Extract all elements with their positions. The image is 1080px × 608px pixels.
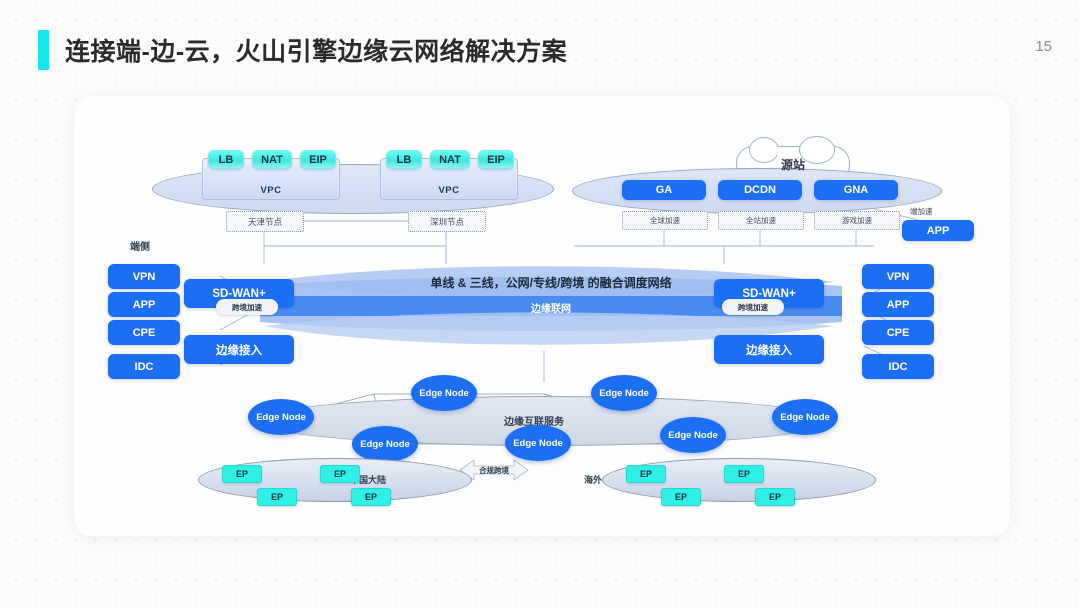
edge-node-2[interactable]: Edge Node	[411, 375, 477, 411]
edge-node-1[interactable]: Edge Node	[248, 399, 314, 435]
cloud-service-gna[interactable]: GNA	[814, 180, 898, 200]
slide-root: 连接端-边-云，火山引擎边缘云网络解决方案 15	[0, 0, 1080, 608]
page-number: 15	[1035, 38, 1052, 55]
vpc-left-service-nat[interactable]: NAT	[252, 150, 292, 169]
cloud-service-dcdn[interactable]: DCDN	[718, 180, 802, 200]
endpoint-left-vpn[interactable]: VPN	[108, 264, 180, 289]
ep-os-1[interactable]: EP	[626, 465, 666, 483]
edge-node-7[interactable]: Edge Node	[772, 399, 838, 435]
ep-cn-2[interactable]: EP	[320, 465, 360, 483]
cloud-service-caption-gna: 游戏加速	[814, 211, 900, 230]
compliant-cross-border-label: 合规跨境	[466, 456, 522, 484]
vpc-right-service-nat[interactable]: NAT	[430, 150, 470, 169]
endpoint-right-idc[interactable]: IDC	[862, 354, 934, 379]
endpoint-right-vpn[interactable]: VPN	[862, 264, 934, 289]
slide-header: 连接端-边-云，火山引擎边缘云网络解决方案	[38, 30, 567, 70]
edge-node-6[interactable]: Edge Node	[660, 417, 726, 453]
title-accent-bar	[38, 30, 49, 70]
backbone-top-text: 单线 & 三线，公网/专线/跨境 的融合调度网络	[260, 274, 842, 291]
overseas-label: 海外	[584, 473, 602, 486]
ep-os-2[interactable]: EP	[724, 465, 764, 483]
edge-node-5[interactable]: Edge Node	[591, 375, 657, 411]
vpc-right-service-lb[interactable]: LB	[386, 150, 422, 169]
cloud-service-ga[interactable]: GA	[622, 180, 706, 200]
cloud-service-caption-ga: 全球加速	[622, 211, 708, 230]
ep-os-3[interactable]: EP	[661, 488, 701, 506]
vpc-left-service-lb[interactable]: LB	[208, 150, 244, 169]
edge-access-right[interactable]: 边缘接入	[714, 335, 824, 364]
ep-cn-3[interactable]: EP	[257, 488, 297, 506]
vpc-right-service-eip[interactable]: EIP	[478, 150, 514, 169]
backbone-mid-text: 边缘联网	[260, 300, 842, 315]
page-title: 连接端-边-云，火山引擎边缘云网络解决方案	[65, 32, 567, 68]
app-caption: 端加速	[910, 206, 933, 217]
region-label-shenzhen: 深圳节点	[408, 211, 486, 232]
cloud-service-caption-dcdn: 全站加速	[718, 211, 804, 230]
vpc-label-right: VPC	[381, 185, 517, 196]
edge-node-3[interactable]: Edge Node	[352, 426, 418, 462]
endpoint-left-idc[interactable]: IDC	[108, 354, 180, 379]
app-node[interactable]: APP	[902, 220, 974, 241]
endpoint-left-app[interactable]: APP	[108, 292, 180, 317]
ep-cn-1[interactable]: EP	[222, 465, 262, 483]
ep-os-4[interactable]: EP	[755, 488, 795, 506]
device-side-label: 端侧	[130, 238, 150, 253]
vpc-label-left: VPC	[203, 185, 339, 196]
origin-cloud-label: 源站	[781, 156, 805, 173]
endpoint-right-cpe[interactable]: CPE	[862, 320, 934, 345]
edge-access-left[interactable]: 边缘接入	[184, 335, 294, 364]
ep-cn-4[interactable]: EP	[351, 488, 391, 506]
region-label-tianjin: 天津节点	[226, 211, 304, 232]
endpoint-left-cpe[interactable]: CPE	[108, 320, 180, 345]
diagram-card: 源站 VPC LB NAT EIP VPC LB NAT EIP 天津节点 深圳…	[74, 96, 1010, 536]
vpc-left-service-eip[interactable]: EIP	[300, 150, 336, 169]
endpoint-right-app[interactable]: APP	[862, 292, 934, 317]
